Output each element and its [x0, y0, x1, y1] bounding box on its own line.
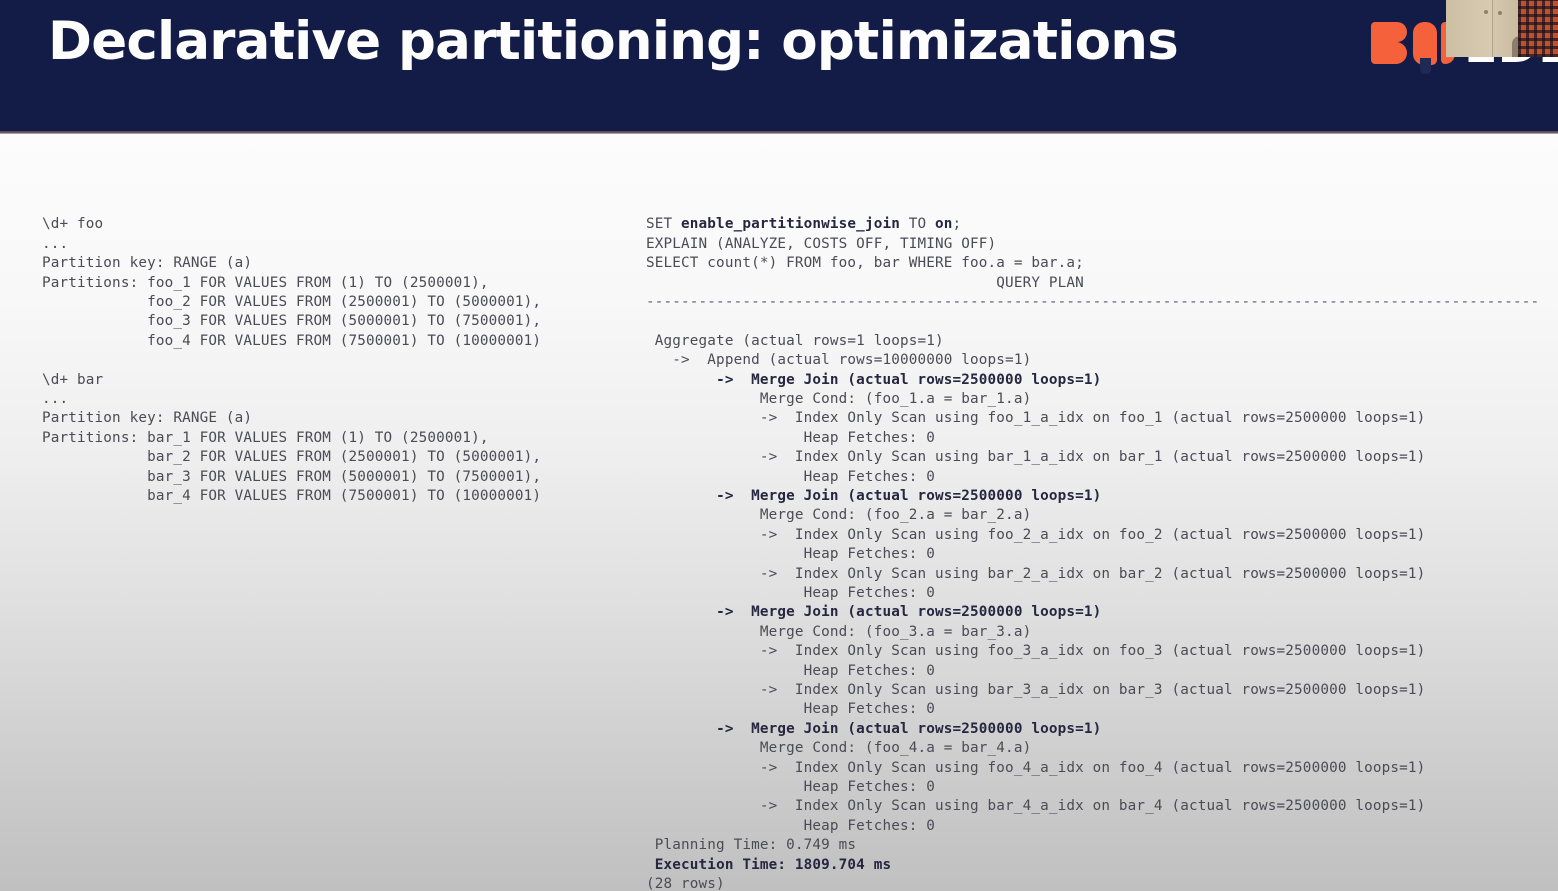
explain-analyze-output-block: SET enable_partitionwise_join TO on; EXP…	[646, 215, 1558, 891]
psql-describe-tables-block: \d+ foo ... Partition key: RANGE (a) Par…	[42, 215, 541, 506]
edb-logo-mark	[1371, 16, 1455, 74]
header-divider	[0, 131, 1558, 134]
presenter-video-overlay[interactable]	[1446, 0, 1558, 57]
page-title: Declarative partitioning: optimizations	[48, 13, 1178, 70]
slide-canvas: Declarative partitioning: optimizations …	[0, 0, 1558, 891]
slide-header-band: Declarative partitioning: optimizations …	[0, 0, 1558, 131]
